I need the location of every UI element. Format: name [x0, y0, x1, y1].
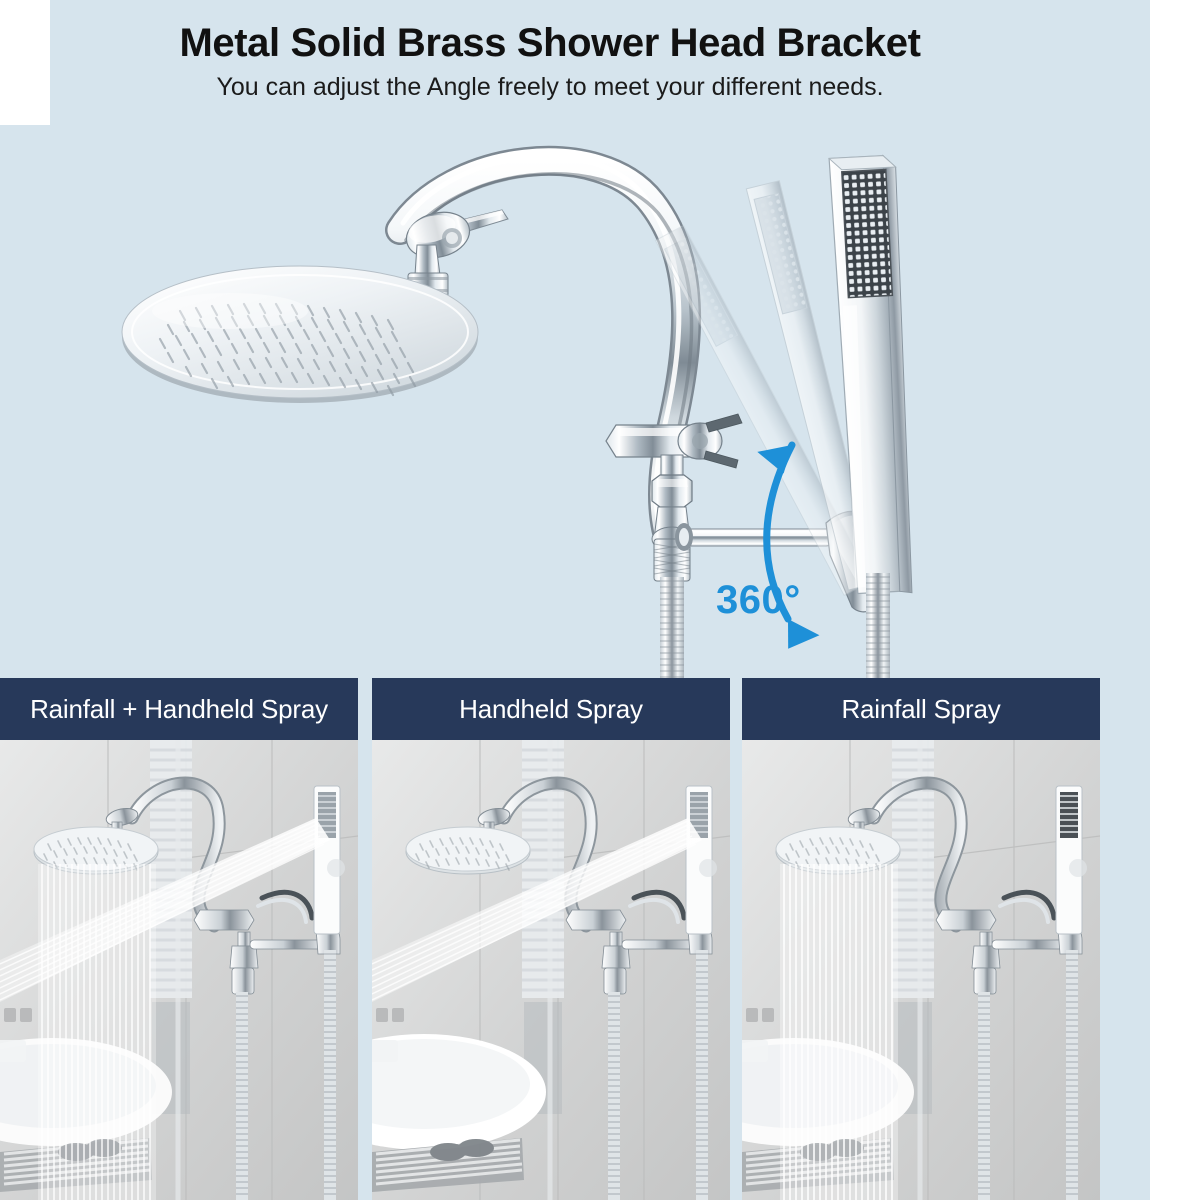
card-label-bar: Rainfall Spray: [742, 678, 1100, 740]
header: Metal Solid Brass Shower Head Bracket Yo…: [0, 0, 1100, 125]
card-label-bar: Handheld Spray: [372, 678, 730, 740]
spray-mode-card[interactable]: Rainfall + Handheld Spray: [0, 678, 358, 1200]
card-photo-rainfall-plus-handheld: [0, 740, 358, 1200]
card-photo-rainfall-only: [742, 740, 1100, 1200]
infographic-root: Metal Solid Brass Shower Head Bracket Yo…: [0, 0, 1200, 1200]
spray-mode-card[interactable]: Handheld Spray: [372, 678, 730, 1200]
card-photo-handheld-only: [372, 740, 730, 1200]
hero-product-illustration: [0, 125, 1100, 678]
card-label: Rainfall + Handheld Spray: [30, 694, 328, 725]
card-label-bar: Rainfall + Handheld Spray: [0, 678, 358, 740]
card-label: Handheld Spray: [459, 694, 643, 725]
spray-mode-cards: Rainfall + Handheld Spray: [0, 678, 1100, 1200]
rotation-badge-360: 360°: [716, 578, 801, 623]
card-label: Rainfall Spray: [841, 694, 1000, 725]
rainfall-shower-head: [122, 266, 478, 403]
page-title: Metal Solid Brass Shower Head Bracket: [0, 0, 1100, 64]
rainfall-water-stream: [780, 864, 898, 1200]
spray-mode-card[interactable]: Rainfall Spray: [742, 678, 1100, 1200]
page-subtitle: You can adjust the Angle freely to meet …: [0, 64, 1100, 102]
